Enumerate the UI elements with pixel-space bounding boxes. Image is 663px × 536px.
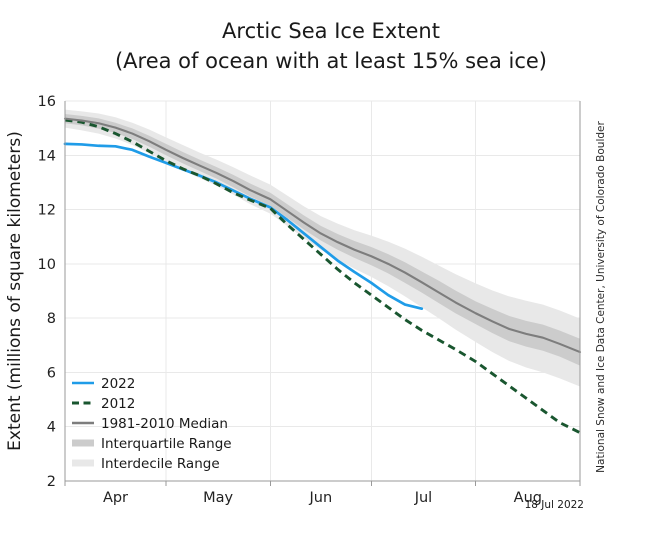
legend-item-2022[interactable]: 2022: [72, 376, 135, 392]
legend-label: 1981-2010 Median: [101, 416, 228, 432]
legend-label: Interquartile Range: [101, 436, 232, 452]
legend-item-2012[interactable]: 2012: [72, 396, 135, 412]
date-stamp: 18 Jul 2022: [525, 499, 584, 511]
chart-title: Arctic Sea Ice Extent: [222, 19, 440, 43]
legend-label: 2012: [101, 396, 135, 412]
credit-label: National Snow and Ice Data Center, Unive…: [595, 121, 607, 473]
series-line-2012: [65, 120, 580, 433]
x-tick-label: May: [203, 490, 233, 506]
y-tick-label: 8: [47, 311, 56, 327]
series-line-2022: [65, 144, 422, 309]
chart-subtitle: (Area of ocean with at least 15% sea ice…: [115, 49, 547, 73]
y-tick-label: 14: [38, 148, 56, 164]
x-tick-label: Jul: [414, 490, 433, 506]
y-tick-label: 10: [38, 257, 56, 273]
y-tick-label: 16: [38, 94, 56, 110]
x-tick-label: Jun: [308, 490, 332, 506]
arctic-sea-ice-chart: Arctic Sea Ice Extent(Area of ocean with…: [0, 0, 663, 532]
y-axis-title: Extent (millions of square kilometers): [5, 131, 25, 451]
legend-item-interdecile-range[interactable]: Interdecile Range: [72, 456, 220, 472]
x-tick-label: Apr: [103, 490, 128, 506]
y-tick-label: 2: [47, 474, 56, 490]
legend-label: Interdecile Range: [101, 456, 220, 472]
legend-item-1981-2010-median[interactable]: 1981-2010 Median: [72, 416, 228, 432]
legend-item-interquartile-range[interactable]: Interquartile Range: [72, 436, 232, 452]
y-tick-label: 6: [47, 365, 56, 381]
y-tick-label: 12: [38, 203, 56, 219]
legend-label: 2022: [101, 376, 135, 392]
chart-svg: Arctic Sea Ice Extent(Area of ocean with…: [0, 0, 663, 532]
band-interquartile-range: [65, 114, 580, 366]
y-tick-label: 4: [47, 420, 56, 436]
